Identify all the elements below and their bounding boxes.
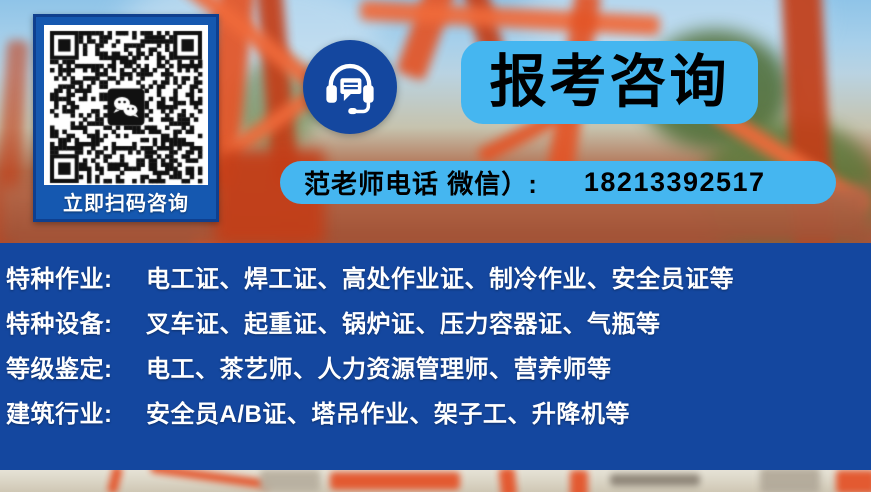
qr-code-card[interactable]: 立即扫码咨询 [33,14,219,222]
services-panel: 特种作业:电工证、焊工证、高处作业证、制冷作业、安全员证等特种设备:叉车证、起重… [0,243,871,470]
crane-beam [107,470,123,492]
qr-code-image[interactable] [44,25,208,185]
title-pill: 报考咨询 [461,41,758,124]
promo-poster: 立即扫码咨询 报考咨询 范老师电话 微信）: 18213392517 特种作业 [0,0,871,492]
service-category-label: 等级鉴定: [6,349,146,384]
service-category-label: 特种设备: [6,304,146,339]
qr-caption: 立即扫码咨询 [36,187,216,216]
service-category-label: 特种作业: [6,259,146,294]
crane-part [610,474,700,486]
service-row: 特种设备:叉车证、起重证、锅炉证、压力容器证、气瓶等 [6,304,871,349]
service-row: 等级鉴定:电工、茶艺师、人力资源管理师、营养师等 [6,349,871,394]
support-badge [303,40,397,134]
headset-support-icon [322,59,378,115]
crane-part [760,470,820,492]
title-pill-label: 报考咨询 [490,54,730,111]
service-items-text: 电工、茶艺师、人力资源管理师、营养师等 [146,349,612,384]
crane-beam [836,470,871,492]
phone-pill[interactable]: 范老师电话 微信）: 18213392517 [280,161,836,204]
crane-beam [330,472,460,490]
service-items-text: 叉车证、起重证、锅炉证、压力容器证、气瓶等 [146,304,661,339]
crane-beam [150,470,270,489]
service-row: 建筑行业:安全员A/B证、塔吊作业、架子工、升降机等 [6,394,871,439]
wechat-qr-code-icon[interactable] [44,25,208,185]
crane-beam [498,470,517,492]
phone-number[interactable]: 18213392517 [584,167,766,198]
service-category-label: 建筑行业: [6,394,146,429]
background-photo-bottom [0,470,871,492]
services-list: 特种作业:电工证、焊工证、高处作业证、制冷作业、安全员证等特种设备:叉车证、起重… [6,259,871,439]
crane-beam [570,470,588,492]
crane-part [260,470,320,492]
service-row: 特种作业:电工证、焊工证、高处作业证、制冷作业、安全员证等 [6,259,871,304]
service-items-text: 电工证、焊工证、高处作业证、制冷作业、安全员证等 [146,259,734,294]
phone-label: 范老师电话 微信）: [304,164,538,201]
service-items-text: 安全员A/B证、塔吊作业、架子工、升降机等 [146,394,630,429]
